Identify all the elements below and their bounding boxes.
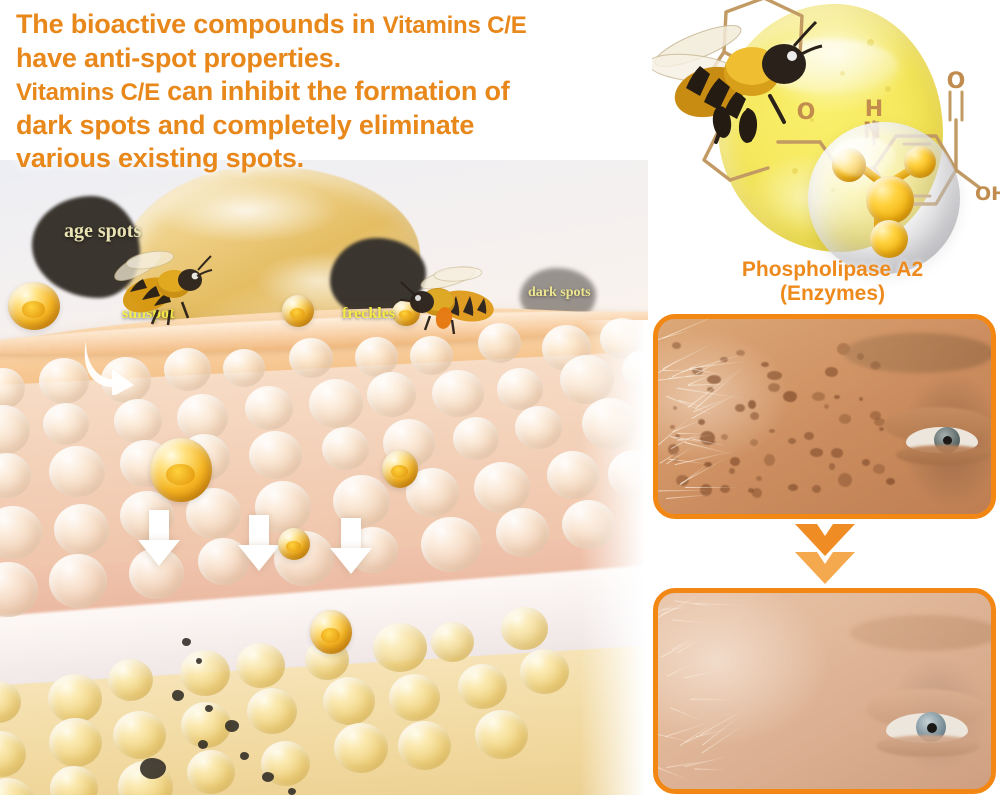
headline-line-2: have anti-spot properties. [16,42,656,75]
skin-cell [49,446,105,497]
skin-cell [496,508,549,557]
skin-cell [247,688,297,734]
vitamin-droplet [8,282,60,330]
age-spot [873,464,885,474]
age-spot [824,404,829,409]
enzyme-atom-center [866,176,914,224]
skin-cell [515,406,562,449]
skin-cell [245,386,293,430]
bee-icon [400,262,508,342]
headline-line-5: various existing spots. [16,142,656,175]
headline-line-1: The bioactive compounds in Vitamins C/E [16,8,656,42]
age-spot [839,414,851,424]
skin-cell [373,623,427,672]
age-spot [783,391,797,402]
age-spot [750,439,758,446]
skin-cell [223,349,265,387]
enzyme-glass-sphere [808,122,960,274]
headline-line-4: dark spots and completely eliminate [16,109,656,142]
skin-cell [475,710,528,759]
age-spot [834,395,840,399]
before-photo-frame [653,314,996,519]
skin-cell [43,403,89,445]
age-spot [825,367,838,377]
skin-cell [54,504,109,555]
skin-cell [421,517,481,572]
eye [890,415,986,465]
age-spot [812,392,825,401]
skin-cell [289,338,333,378]
age-spot [788,484,798,491]
age-spot [670,425,675,429]
age-spot [750,412,759,420]
ingredient-name: Phospholipase A2 [660,258,1000,282]
skin-cell [322,427,369,470]
eyebrow [844,333,994,373]
chevron-down-icon [795,552,855,584]
skin-cell [501,607,548,650]
skin-cell [164,348,211,391]
vitamin-droplet [282,295,314,327]
penetration-curve-arrow [82,335,138,395]
eye [872,699,980,755]
age-spot [804,432,814,440]
headline-text-block: The bioactive compounds in Vitamins C/E … [16,8,656,175]
vitamin-droplet [382,450,418,488]
after-photo-frame [653,588,996,794]
label-dark-spots: dark spots [528,285,591,301]
age-spot [721,434,728,440]
age-spot [764,454,775,466]
vitamin-droplet [278,528,310,560]
enzyme-atom-bottom [870,220,908,258]
age-spot [729,468,735,474]
skin-cell [187,750,235,794]
age-spot [812,485,821,493]
age-spot [673,406,677,410]
skin-cell [431,622,474,662]
skin-cell [398,721,451,770]
skin-cell [367,372,416,417]
age-spot [879,427,884,431]
skin-cell [113,711,166,759]
age-spot [730,457,740,466]
age-spot [831,448,843,458]
enzyme-atom-left [832,148,866,182]
ingredient-subtitle: (Enzymes) [660,282,1000,306]
age-spot [862,459,870,466]
atom-label-o-top: O [947,69,966,94]
age-spot [886,478,895,485]
skin-cell [309,379,363,428]
skin-cell [323,677,375,725]
age-spot [838,473,852,487]
skin-cell [474,462,530,513]
skin-cell [49,554,107,608]
skin-cross-section-illustration [0,160,648,795]
age-spot [761,362,769,367]
skin-cell [355,337,398,377]
age-spot [769,429,775,433]
skin-cell [389,674,440,721]
age-spot [767,371,782,380]
age-spot [859,397,863,401]
skin-cell [114,399,162,443]
skin-cell [249,431,302,479]
ingredient-visual: O H N O OH [660,0,1000,277]
age-spot [810,448,823,457]
skin-cell [453,417,499,460]
skin-cell [497,368,543,410]
age-spot [735,404,745,412]
skin-cell [180,650,230,696]
skin-cell [108,659,153,701]
enzyme-atom-right [904,146,936,178]
vitamin-droplet [150,438,212,502]
ingredient-caption: Phospholipase A2 (Enzymes) [660,258,1000,306]
age-spot [672,342,681,349]
bee-icon [104,240,214,330]
age-spot [748,400,756,409]
right-fade-mask [580,320,648,795]
skin-cell [432,370,484,417]
skin-cell [458,664,507,709]
poster-canvas: age spots sunspot freckles dark spots Th… [0,0,1000,795]
skin-cell [334,723,388,773]
bee-icon [652,10,832,155]
vitamin-droplet [310,610,352,654]
skin-cell [48,674,102,723]
atom-label-oh: OH [975,183,1000,205]
age-spot [752,488,762,498]
age-spot [768,383,780,392]
headline-line-3: Vitamins C/E can inhibit the formation o… [16,75,656,109]
eyebrow [850,615,996,651]
skin-cell [236,643,285,688]
label-freckles: freckles [342,305,395,323]
skin-cell [49,718,102,767]
age-spot [829,463,835,470]
skin-cell [520,649,569,694]
age-spot [756,476,762,481]
age-spot [788,438,796,444]
transition-arrows [795,524,855,586]
